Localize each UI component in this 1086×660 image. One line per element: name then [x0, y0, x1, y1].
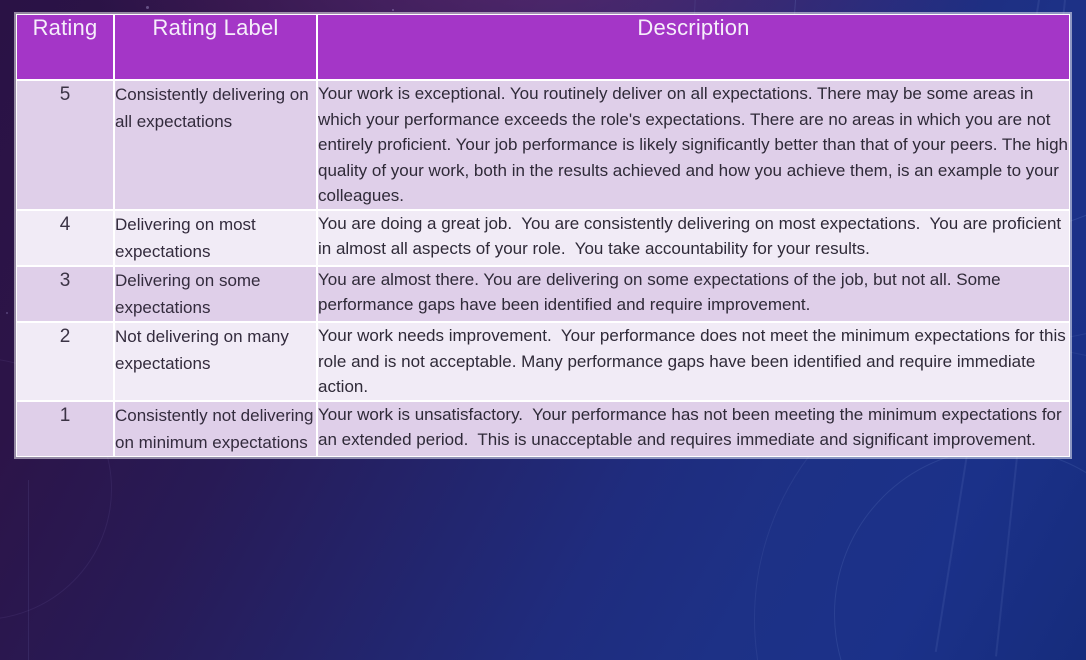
cell-rating: 3 [16, 266, 114, 322]
column-header-rating: Rating [16, 14, 114, 80]
decorative-dot [146, 6, 149, 9]
performance-rating-table: Rating Rating Label Description 5 Consis… [16, 14, 1070, 457]
cell-rating: 5 [16, 80, 114, 210]
cell-rating-label: Delivering on some expectations [114, 266, 317, 322]
cell-rating: 4 [16, 210, 114, 266]
cell-rating: 1 [16, 401, 114, 457]
cell-description: You are almost there. You are delivering… [317, 266, 1070, 322]
slide-canvas: Rating Rating Label Description 5 Consis… [0, 0, 1086, 660]
table-row: 5 Consistently delivering on all expecta… [16, 80, 1070, 210]
cell-rating: 2 [16, 322, 114, 401]
table-row: 3 Delivering on some expectations You ar… [16, 266, 1070, 322]
table-row: 4 Delivering on most expectations You ar… [16, 210, 1070, 266]
column-header-description: Description [317, 14, 1070, 80]
decorative-arc-icon [834, 448, 1086, 660]
table-header: Rating Rating Label Description [16, 14, 1070, 80]
decorative-dot [392, 9, 394, 11]
column-header-rating-label: Rating Label [114, 14, 317, 80]
cell-rating-label: Not delivering on many expectations [114, 322, 317, 401]
cell-description: Your work needs improvement. Your perfor… [317, 322, 1070, 401]
cell-rating-label: Consistently not delivering on minimum e… [114, 401, 317, 457]
cell-description: You are doing a great job. You are consi… [317, 210, 1070, 266]
table-header-row: Rating Rating Label Description [16, 14, 1070, 80]
decorative-dot [6, 312, 8, 314]
decorative-line [28, 480, 29, 660]
cell-description: Your work is unsatisfactory. Your perfor… [317, 401, 1070, 457]
table-row: 2 Not delivering on many expectations Yo… [16, 322, 1070, 401]
table-row: 1 Consistently not delivering on minimum… [16, 401, 1070, 457]
cell-rating-label: Delivering on most expectations [114, 210, 317, 266]
cell-description: Your work is exceptional. You routinely … [317, 80, 1070, 210]
cell-rating-label: Consistently delivering on all expectati… [114, 80, 317, 210]
table-body: 5 Consistently delivering on all expecta… [16, 80, 1070, 457]
